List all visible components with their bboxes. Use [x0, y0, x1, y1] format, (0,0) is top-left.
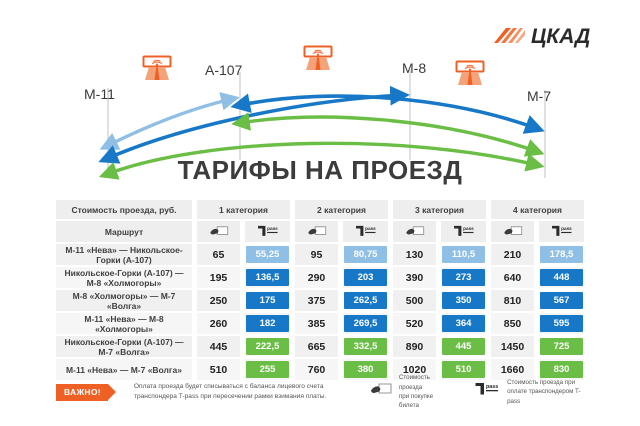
table-row: Никольское-Горки (А-107) — М-8 «Холмогор…	[56, 267, 584, 288]
cash-price-cat1: 195	[197, 267, 240, 288]
cash-price-cat2: 760	[295, 359, 338, 380]
cash-price-cat4: 1450	[491, 336, 534, 357]
svg-text:pass: pass	[365, 226, 376, 231]
cash-price-cat4: 850	[491, 313, 534, 334]
cash-price-cat4: 1660	[491, 359, 534, 380]
table-row: M-11 «Нева» — Никольское-Горки (А-107)65…	[56, 244, 584, 265]
node-label-a107: A-107	[205, 62, 242, 78]
legend-item-tpass: pass Стоимость проезда при оплате трансп…	[474, 378, 584, 406]
svg-text:pass: pass	[267, 226, 278, 231]
header-icon-tpass-1: pass	[245, 221, 290, 242]
table-row: Никольское-Горки (А-107) — М-7 «Волга»44…	[56, 336, 584, 357]
cash-price-cat3: 130	[393, 244, 436, 265]
tpass-price-cat1: 175	[245, 290, 290, 311]
cash-price-cat2: 290	[295, 267, 338, 288]
ckad-logo-icon	[492, 26, 526, 47]
tpass-price-cat1: 255	[245, 359, 290, 380]
tpass-price-cat3: 350	[441, 290, 486, 311]
table-row: M-11 «Нева» — М-7 «Волга»510255760380102…	[56, 359, 584, 380]
cash-price-cat1: 250	[197, 290, 240, 311]
page-title: ТАРИФЫ НА ПРОЕЗД	[0, 155, 640, 186]
route-name: Никольское-Горки (А-107) — М-7 «Волга»	[56, 336, 192, 357]
table-header-categories: Стоимость проезда, руб.1 категория2 кате…	[56, 200, 584, 219]
header-route-label: Маршрут	[56, 221, 192, 242]
route-name: Никольское-Горки (А-107) — М-8 «Холмогор…	[56, 267, 192, 288]
header-cost-label: Стоимость проезда, руб.	[56, 200, 192, 219]
tpass-price-cat2: 332,5	[343, 336, 388, 357]
table-row: M-11 «Нева» — М-8 «Холмогоры»26018238526…	[56, 313, 584, 334]
tpass-price-cat1: 55,25	[245, 244, 290, 265]
legend-label-ticket: Стоимость проезда при покупке билета	[399, 373, 448, 410]
header-icon-ticket-2	[295, 221, 338, 242]
cash-price-cat3: 500	[393, 290, 436, 311]
tpass-price-cat4: 725	[539, 336, 584, 357]
toll-gantry-icon	[455, 60, 485, 86]
tpass-price-cat2: 262,5	[343, 290, 388, 311]
node-label-m8: M-8	[402, 60, 426, 76]
header-category-3: 3 категория	[393, 200, 486, 219]
cash-price-cat4: 810	[491, 290, 534, 311]
t-pass-icon: pass	[474, 382, 500, 402]
cash-price-cat3: 390	[393, 267, 436, 288]
header-icon-ticket-4	[491, 221, 534, 242]
tpass-price-cat4: 567	[539, 290, 584, 311]
node-label-m11: M-11	[84, 86, 115, 102]
cash-price-cat2: 375	[295, 290, 338, 311]
tpass-price-cat4: 448	[539, 267, 584, 288]
ticket-hand-icon	[370, 382, 392, 402]
table-row: М-8 «Холмогоры» — М-7 «Волга»25017537526…	[56, 290, 584, 311]
table-header-icons: Маршрутpasspasspasspass	[56, 221, 584, 242]
tpass-price-cat2: 269,5	[343, 313, 388, 334]
cash-price-cat2: 385	[295, 313, 338, 334]
legend-item-ticket: Стоимость проезда при покупке билета	[370, 373, 448, 410]
route-name: М-8 «Холмогоры» — М-7 «Волга»	[56, 290, 192, 311]
tpass-price-cat1: 222,5	[245, 336, 290, 357]
tpass-price-cat2: 203	[343, 267, 388, 288]
cash-price-cat3: 520	[393, 313, 436, 334]
tpass-price-cat3: 273	[441, 267, 486, 288]
tariff-table: Стоимость проезда, руб.1 категория2 кате…	[56, 198, 584, 382]
footer-legend: ВАЖНО! Оплата проезда будет списываться …	[56, 378, 584, 406]
toll-gantry-icon	[142, 55, 172, 81]
cash-price-cat1: 65	[197, 244, 240, 265]
brand-logo: ЦКАД	[492, 26, 590, 47]
route-name: M-11 «Нева» — М-8 «Холмогоры»	[56, 313, 192, 334]
footer-note: Оплата проезда будет списываться с балан…	[134, 382, 344, 402]
tpass-price-cat1: 136,5	[245, 267, 290, 288]
tpass-price-cat3: 110,5	[441, 244, 486, 265]
tpass-price-cat3: 364	[441, 313, 486, 334]
tpass-price-cat4: 178,5	[539, 244, 584, 265]
cash-price-cat4: 210	[491, 244, 534, 265]
cash-price-cat1: 510	[197, 359, 240, 380]
node-label-m7: M-7	[527, 88, 551, 104]
tpass-price-cat4: 830	[539, 359, 584, 380]
header-category-1: 1 категория	[197, 200, 290, 219]
tpass-price-cat1: 182	[245, 313, 290, 334]
header-category-4: 4 категория	[491, 200, 584, 219]
tpass-price-cat2: 80,75	[343, 244, 388, 265]
cash-price-cat1: 445	[197, 336, 240, 357]
header-icon-tpass-3: pass	[441, 221, 486, 242]
svg-text:pass: pass	[463, 226, 474, 231]
cash-price-cat2: 665	[295, 336, 338, 357]
svg-text:pass: pass	[561, 226, 572, 231]
cash-price-cat3: 890	[393, 336, 436, 357]
cash-price-cat2: 95	[295, 244, 338, 265]
header-icon-ticket-3	[393, 221, 436, 242]
header-category-2: 2 категория	[295, 200, 388, 219]
route-name: M-11 «Нева» — Никольское-Горки (А-107)	[56, 244, 192, 265]
header-icon-ticket-1	[197, 221, 240, 242]
brand-name: ЦКАД	[531, 26, 590, 47]
toll-gantry-icon	[303, 45, 333, 71]
tpass-price-cat3: 445	[441, 336, 486, 357]
header-icon-tpass-4: pass	[539, 221, 584, 242]
svg-text:pass: pass	[486, 384, 498, 390]
cash-price-cat4: 640	[491, 267, 534, 288]
tpass-price-cat4: 595	[539, 313, 584, 334]
important-badge: ВАЖНО!	[56, 384, 108, 401]
route-name: M-11 «Нева» — М-7 «Волга»	[56, 359, 192, 380]
header-icon-tpass-2: pass	[343, 221, 388, 242]
legend-label-tpass: Стоимость проезда при оплате транспондер…	[507, 378, 584, 406]
cash-price-cat1: 260	[197, 313, 240, 334]
tariff-infographic: ЦКАД	[0, 0, 640, 426]
